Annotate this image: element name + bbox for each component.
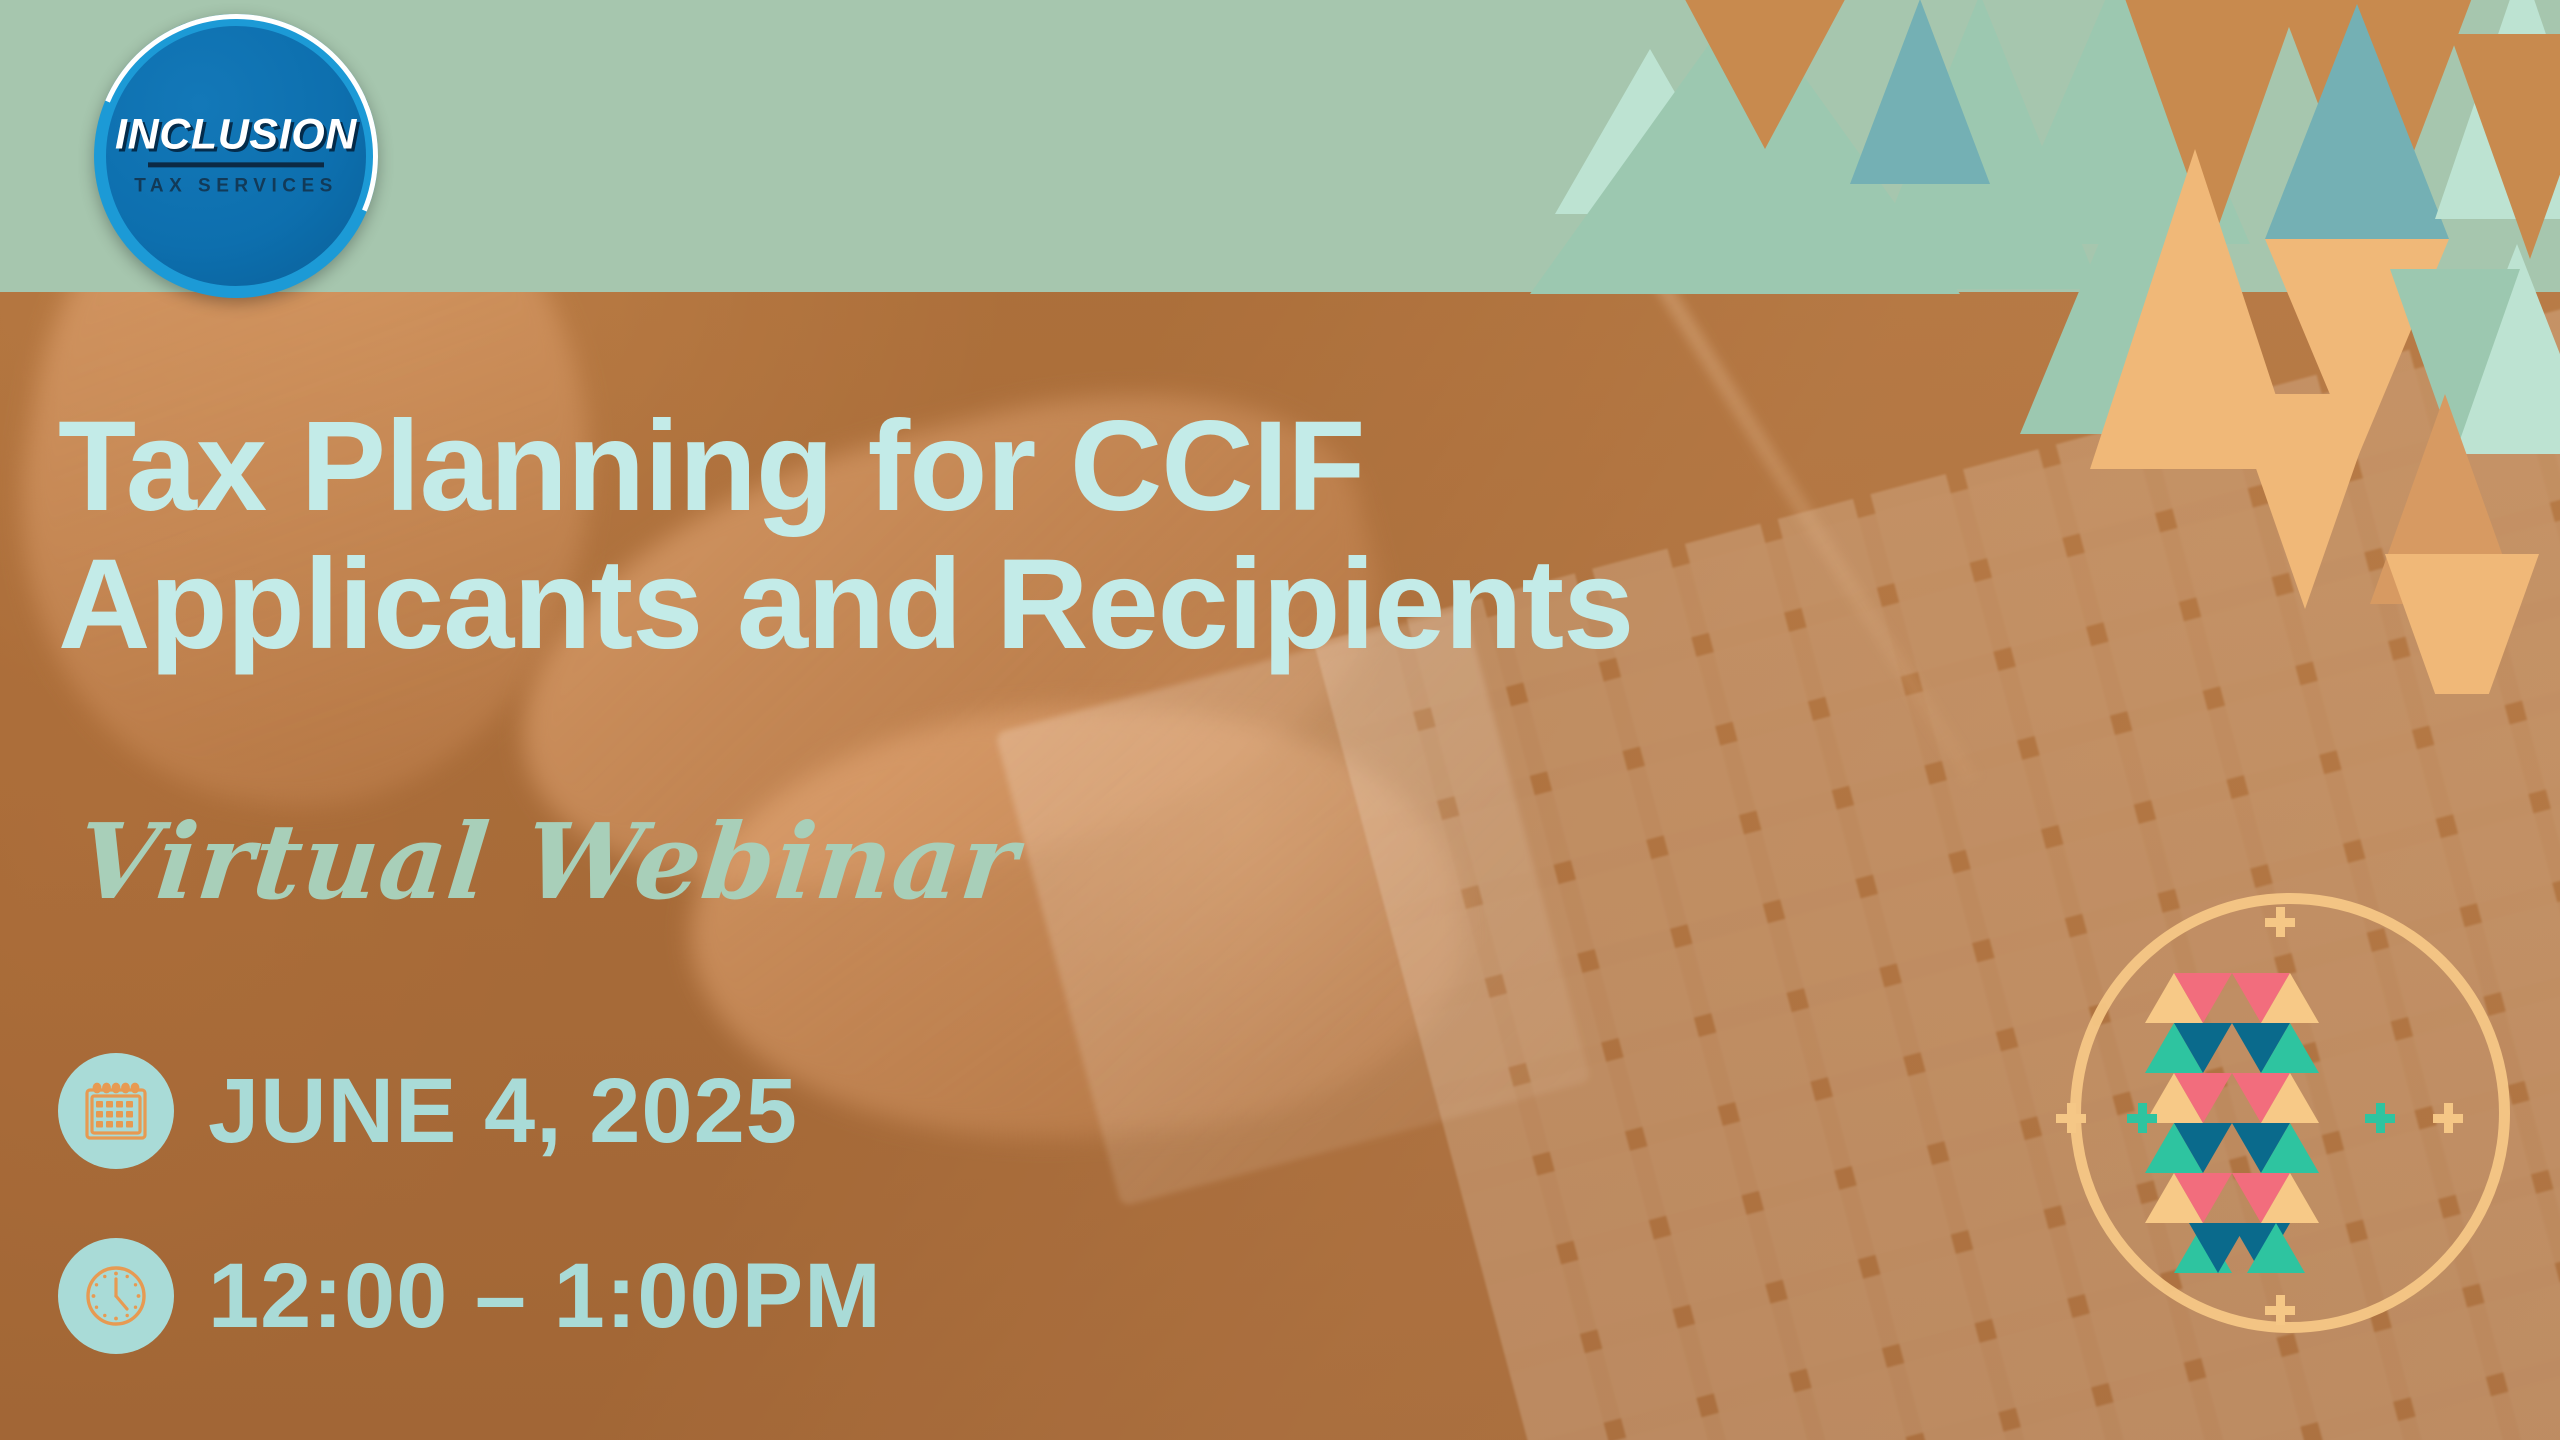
page-title: Tax Planning for CCIF Applicants and Rec… [58,398,2358,674]
logo-tagline: TAX SERVICES [94,176,378,195]
geometric-medallion [2065,885,2525,1355]
medallion-triangle [2261,1123,2319,1173]
logo-wordmark: INCLUSION [94,113,378,156]
medallion-triangle [2261,973,2319,1023]
medallion-triangle [2247,1223,2305,1273]
medallion-plus-mark [2433,1103,2463,1133]
medallion-triangle-grid [2145,973,2377,1249]
medallion-triangle [2261,1173,2319,1223]
event-date: JUNE 4, 2025 [208,1065,798,1157]
brand-logo[interactable]: INCLUSION TAX SERVICES [94,14,378,298]
medallion-triangle [2174,1023,2232,1073]
medallion-triangle [2174,973,2232,1023]
mosaic-triangle [2265,4,2449,239]
medallion-plus-mark [2056,1103,2086,1133]
clock-icon [58,1238,174,1354]
promo-graphic: INCLUSION TAX SERVICES Tax Planning for … [0,0,2560,1440]
medallion-plus-mark [2365,1103,2395,1133]
logo-divider-rule [148,162,324,167]
medallion-plus-mark [2127,1103,2157,1133]
event-time: 12:00 – 1:00PM [208,1250,882,1342]
calendar-icon [58,1053,174,1169]
medallion-plus-mark [2265,907,2295,937]
medallion-triangle [2261,1023,2319,1073]
mosaic-triangle [1650,0,1880,149]
medallion-triangle [2261,1073,2319,1123]
medallion-triangle [2174,1123,2232,1173]
mosaic-triangle [2450,34,2560,259]
logo-lockup: INCLUSION TAX SERVICES [94,113,378,195]
medallion-plus-mark [2265,1295,2295,1325]
event-subtitle: Virtual Webinar [72,800,1024,923]
event-time-row: 12:00 – 1:00PM [58,1238,882,1354]
headline-line-2: Applicants and Recipients [58,536,2358,674]
headline-line-1: Tax Planning for CCIF [58,395,1364,538]
medallion-triangle [2174,1073,2232,1123]
mosaic-triangle [2385,554,2539,694]
medallion-triangle [2174,1173,2232,1223]
event-date-row: JUNE 4, 2025 [58,1053,798,1169]
mosaic-triangle [1850,0,1990,184]
